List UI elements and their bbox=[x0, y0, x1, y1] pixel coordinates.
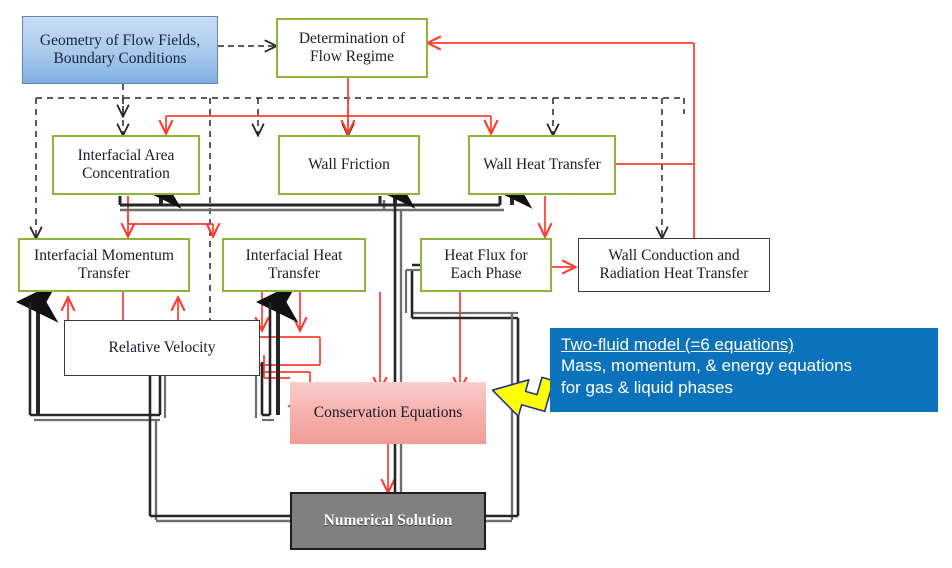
node-determination-of-flow-regime[interactable]: Determination of Flow Regime bbox=[276, 18, 428, 78]
node-geometry-of-flow-fields[interactable]: Geometry of Flow Fields, Boundary Condit… bbox=[22, 16, 218, 84]
node-interfacial-heat-transfer[interactable]: Interfacial Heat Transfer bbox=[222, 238, 366, 292]
node-interfacial-area-concentration[interactable]: Interfacial Area Concentration bbox=[52, 135, 200, 195]
callout-two-fluid-model: Two-fluid model (=6 equations) Mass, mom… bbox=[550, 328, 938, 412]
node-conservation-equations[interactable]: Conservation Equations bbox=[290, 382, 486, 444]
node-wall-heat-transfer[interactable]: Wall Heat Transfer bbox=[468, 135, 616, 195]
node-relative-velocity[interactable]: Relative Velocity bbox=[64, 320, 260, 376]
yellow-callout-arrow bbox=[488, 365, 554, 423]
node-numerical-solution[interactable]: Numerical Solution bbox=[290, 492, 486, 550]
node-interfacial-momentum-transfer[interactable]: Interfacial Momentum Transfer bbox=[18, 238, 190, 292]
node-wall-conduction-radiation-heat-transfer[interactable]: Wall Conduction and Radiation Heat Trans… bbox=[578, 238, 770, 292]
node-wall-friction[interactable]: Wall Friction bbox=[278, 135, 420, 195]
node-heat-flux-for-each-phase[interactable]: Heat Flux for Each Phase bbox=[420, 238, 552, 292]
flow-diagram-canvas: Geometry of Flow Fields, Boundary Condit… bbox=[0, 0, 952, 568]
callout-line-2: for gas & liquid phases bbox=[561, 377, 929, 398]
callout-heading: Two-fluid model (=6 equations) bbox=[561, 334, 929, 355]
callout-line-1: Mass, momentum, & energy equations bbox=[561, 355, 929, 376]
